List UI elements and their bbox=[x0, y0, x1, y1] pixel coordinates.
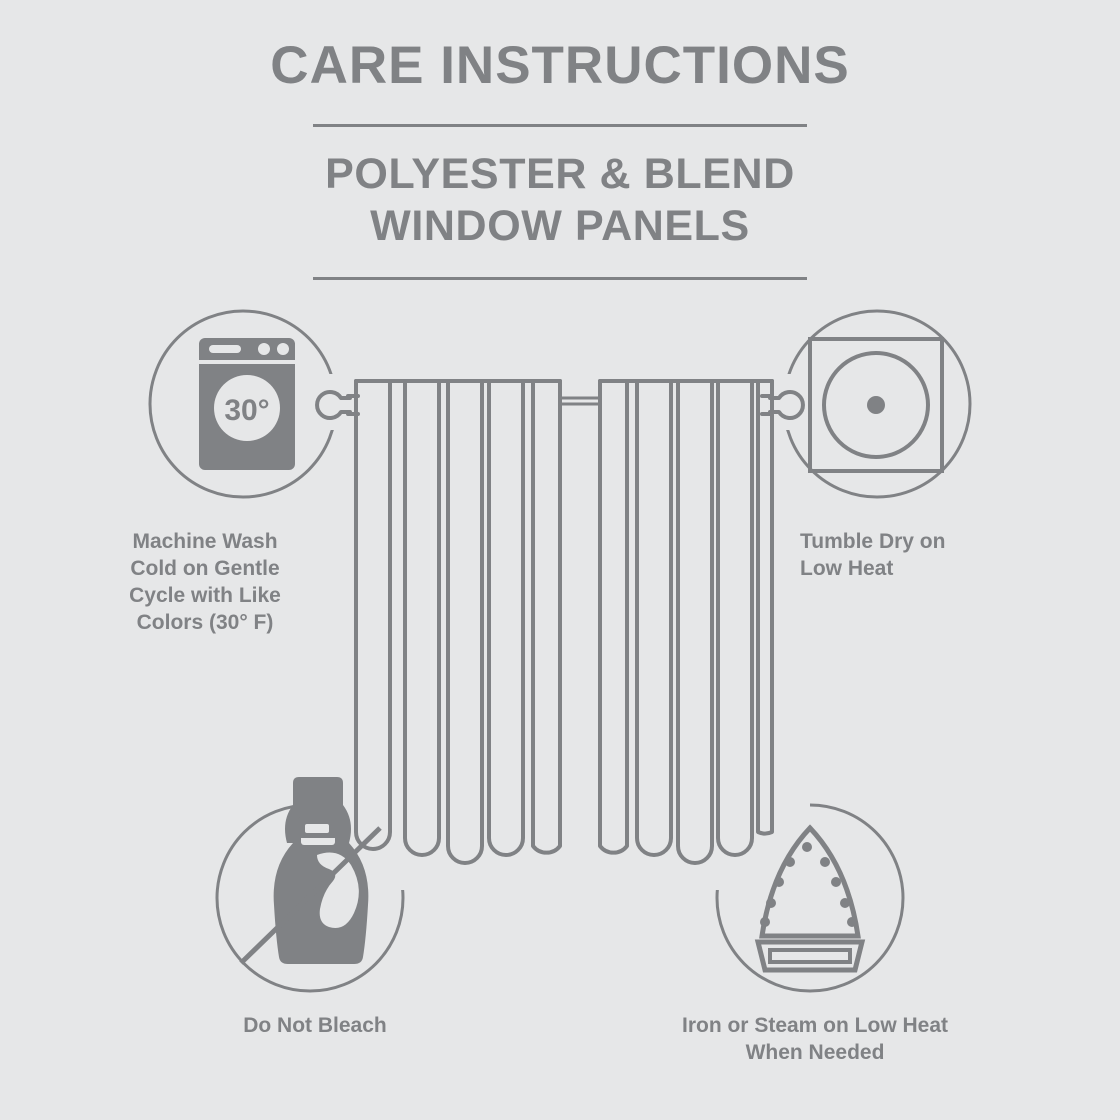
caption-line: Iron or Steam on Low Heat bbox=[615, 1012, 1015, 1039]
curtain-finial-right bbox=[762, 392, 803, 418]
care-instructions-page: CARE INSTRUCTIONS POLYESTER & BLEND WIND… bbox=[0, 0, 1120, 1120]
caption-line: When Needed bbox=[615, 1039, 1015, 1066]
curtain-panel-right bbox=[600, 381, 772, 863]
caption-line: Low Heat bbox=[800, 555, 1050, 582]
iron-caption: Iron or Steam on Low Heat When Needed bbox=[615, 1012, 1015, 1066]
wash-temperature-label: 30° bbox=[224, 394, 269, 427]
iron-icon bbox=[758, 828, 862, 970]
do-not-bleach-caption: Do Not Bleach bbox=[180, 1012, 450, 1039]
caption-line: Machine Wash bbox=[85, 528, 325, 555]
curtain-panel-left bbox=[356, 381, 560, 863]
washing-machine-icon: 30° bbox=[199, 338, 295, 470]
curtain-finial-left bbox=[317, 392, 358, 418]
caption-line: Do Not Bleach bbox=[180, 1012, 450, 1039]
tumble-dry-caption: Tumble Dry on Low Heat bbox=[800, 528, 1050, 582]
caption-line: Tumble Dry on bbox=[800, 528, 1050, 555]
caption-line: Cold on Gentle bbox=[85, 555, 325, 582]
caption-line: Colors (30° F) bbox=[85, 609, 325, 636]
curtain-illustration bbox=[317, 381, 803, 863]
caption-line: Cycle with Like bbox=[85, 582, 325, 609]
no-bleach-icon bbox=[241, 777, 380, 964]
tumble-dry-low-icon bbox=[810, 339, 942, 471]
machine-wash-caption: Machine Wash Cold on Gentle Cycle with L… bbox=[85, 528, 325, 636]
